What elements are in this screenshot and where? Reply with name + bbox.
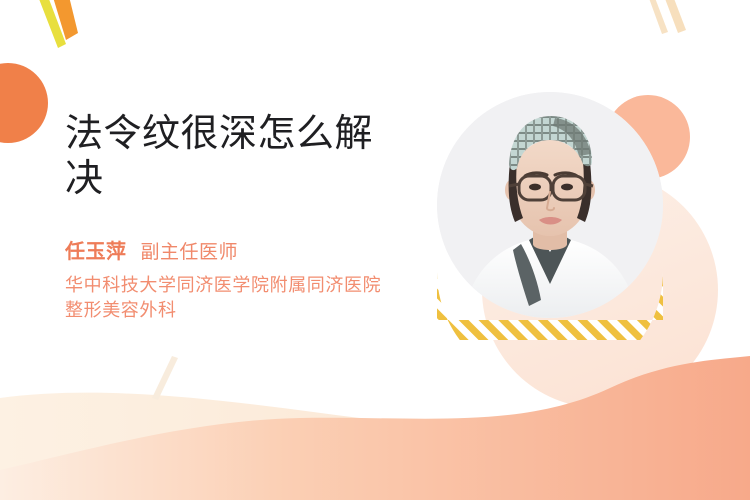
cover-canvas: 法令纹很深怎么解决 任玉萍副主任医师 华中科技大学同济医学院附属同济医院 整形美…: [0, 0, 750, 500]
top-left-stripe-orange: [49, 0, 78, 40]
top-left-stripe-group: [34, 0, 78, 48]
top-right-stripe-group: [646, 0, 686, 34]
left-orange-circle: [0, 63, 48, 143]
doctor-identity-line: 任玉萍副主任医师: [65, 235, 465, 264]
doctor-rank: 副主任医师: [141, 242, 239, 263]
doctor-department: 整形美容外科: [65, 298, 465, 324]
top-right-stripe-a: [646, 0, 668, 34]
portrait-circle: [437, 92, 663, 318]
bottom-salmon-wave: [0, 356, 750, 500]
top-right-stripe-b: [661, 0, 686, 33]
top-left-stripe-yellow: [34, 0, 66, 48]
page-title: 法令纹很深怎么解决: [65, 112, 405, 202]
bottom-left-faint-stripe: [152, 356, 178, 400]
cover-text-block: 法令纹很深怎么解决 任玉萍副主任医师 华中科技大学同济医学院附属同济医院 整形美…: [65, 112, 465, 324]
bottom-cream-wave: [0, 386, 750, 500]
doctor-hospital: 华中科技大学同济医学院附属同济医院: [65, 273, 465, 299]
portrait-illustration: [437, 92, 663, 318]
doctor-name: 任玉萍: [65, 241, 127, 263]
doctor-portrait: [437, 92, 663, 318]
